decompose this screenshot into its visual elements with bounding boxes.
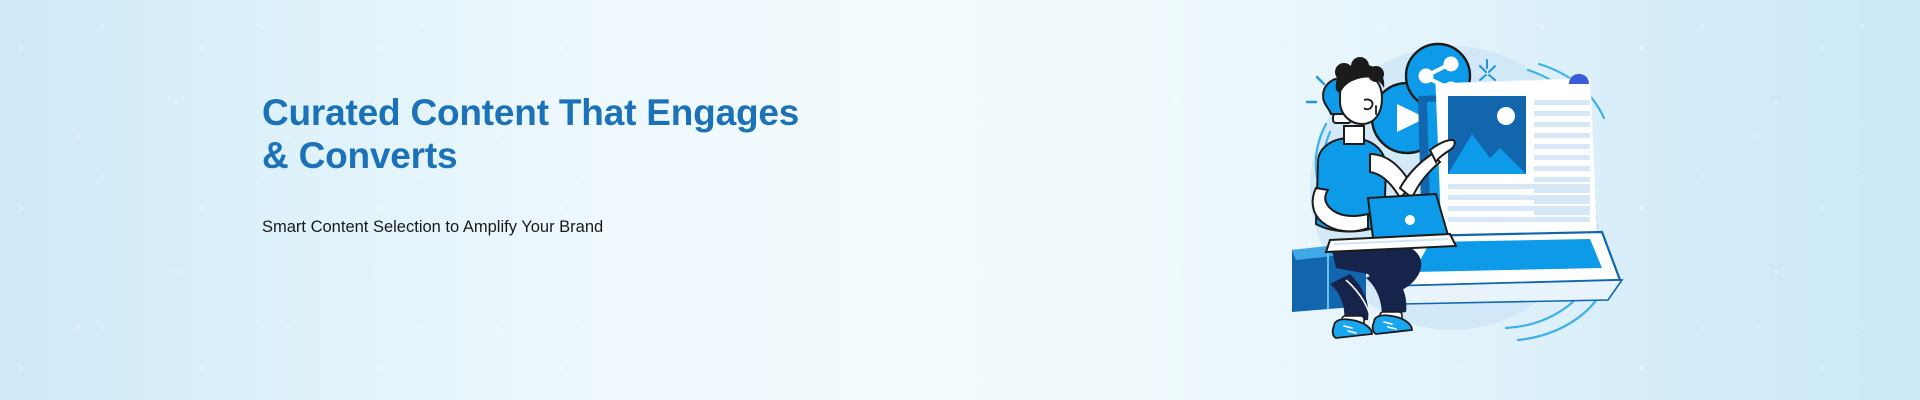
document-card bbox=[1436, 74, 1597, 238]
content-curation-illustration bbox=[1290, 28, 1630, 358]
image-placeholder-icon bbox=[1448, 96, 1526, 174]
banner-subtitle: Smart Content Selection to Amplify Your … bbox=[262, 216, 1022, 239]
page-title: Curated Content That Engages & Converts bbox=[262, 92, 1022, 178]
banner-copy: Curated Content That Engages & Converts … bbox=[262, 92, 1022, 239]
hero-banner: Curated Content That Engages & Converts … bbox=[0, 0, 1920, 400]
